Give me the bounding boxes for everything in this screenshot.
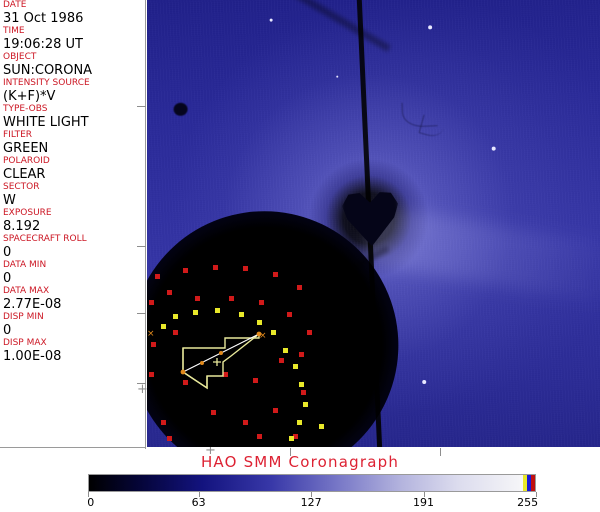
metadata-value: SUN:CORONA — [3, 63, 142, 78]
colorbar-tick-label: 191 — [413, 497, 434, 509]
colorbar-axis: 063127191255 — [88, 492, 536, 512]
metadata-field: EXPOSURE8.192 — [0, 208, 142, 234]
axis-tick-left — [137, 246, 146, 247]
metadata-value: WHITE LIGHT — [3, 115, 142, 130]
metadata-label: DISP MIN — [3, 312, 142, 323]
metadata-label: SPACECRAFT ROLL — [3, 234, 142, 245]
polygon-annotation — [147, 0, 600, 447]
metadata-value: 2.77E-08 — [3, 297, 142, 312]
metadata-field: TIME19:06:28 UT — [0, 26, 142, 52]
colorbar-gradient — [89, 475, 523, 491]
metadata-field: DISP MAX1.00E-08 — [0, 338, 142, 364]
annotation-markers: × × — [147, 0, 600, 447]
metadata-label: DATE — [3, 0, 142, 11]
page-title: HAO SMM Coronagraph — [0, 453, 600, 471]
metadata-value: 31 Oct 1986 — [3, 11, 142, 26]
metadata-field: OBJECTSUN:CORONA — [0, 52, 142, 78]
axis-tick-left — [137, 313, 146, 314]
metadata-label: EXPOSURE — [3, 208, 142, 219]
metadata-value: 19:06:28 UT — [3, 37, 142, 52]
coronagraph-display: DATE31 Oct 1986TIME19:06:28 UTOBJECTSUN:… — [0, 0, 600, 512]
metadata-field: DATA MIN0 — [0, 260, 142, 286]
metadata-value: 0 — [3, 271, 142, 286]
metadata-value: GREEN — [3, 141, 142, 156]
metadata-field: SPACECRAFT ROLL0 — [0, 234, 142, 260]
colorbar-tick-label: 127 — [301, 497, 322, 509]
metadata-field: INTENSITY SOURCE(K+F)*V — [0, 78, 142, 104]
metadata-value: W — [3, 193, 142, 208]
colorbar-tick-label: 255 — [517, 497, 538, 509]
metadata-field: DATA MAX2.77E-08 — [0, 286, 142, 312]
sidebar-bottom-rule — [0, 447, 146, 448]
metadata-sidebar: DATE31 Oct 1986TIME19:06:28 UTOBJECTSUN:… — [0, 0, 142, 447]
metadata-field: TYPE-OBSWHITE LIGHT — [0, 104, 142, 130]
metadata-field: FILTERGREEN — [0, 130, 142, 156]
colorbar-tick-label: 0 — [87, 497, 94, 509]
metadata-label: FILTER — [3, 130, 142, 141]
metadata-field: DATE31 Oct 1986 — [0, 0, 142, 26]
coronagraph-image[interactable]: × × — [147, 0, 600, 447]
metadata-field: SECTORW — [0, 182, 142, 208]
metadata-label: TIME — [3, 26, 142, 37]
metadata-label: OBJECT — [3, 52, 142, 63]
metadata-field: DISP MIN0 — [0, 312, 142, 338]
metadata-label: SECTOR — [3, 182, 142, 193]
metadata-label: TYPE-OBS — [3, 104, 142, 115]
metadata-value: 0 — [3, 245, 142, 260]
metadata-value: CLEAR — [3, 167, 142, 182]
metadata-label: DATA MIN — [3, 260, 142, 271]
metadata-value: 1.00E-08 — [3, 349, 142, 364]
colorbar-tick-label: 63 — [192, 497, 206, 509]
metadata-value: 0 — [3, 323, 142, 338]
metadata-value: (K+F)*V — [3, 89, 142, 104]
metadata-label: INTENSITY SOURCE — [3, 78, 142, 89]
colorbar[interactable] — [88, 474, 536, 492]
metadata-field: POLAROIDCLEAR — [0, 156, 142, 182]
metadata-value: 8.192 — [3, 219, 142, 234]
axis-tick-left — [137, 106, 146, 107]
metadata-label: POLAROID — [3, 156, 142, 167]
metadata-label: DISP MAX — [3, 338, 142, 349]
metadata-label: DATA MAX — [3, 286, 142, 297]
colorbar-special-red — [531, 475, 535, 491]
